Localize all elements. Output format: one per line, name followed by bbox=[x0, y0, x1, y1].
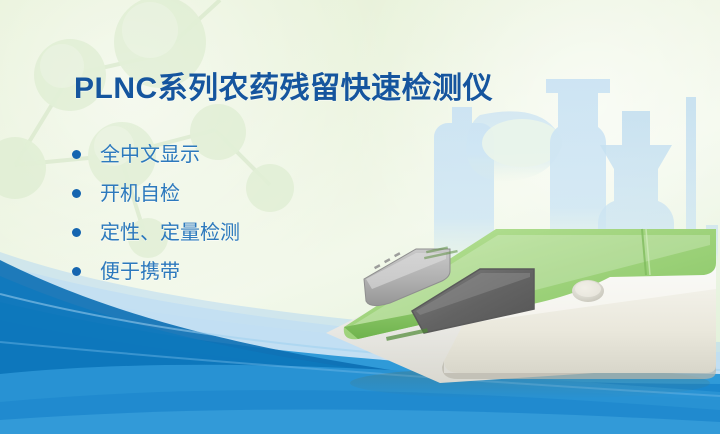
page-title: PLNC系列农药残留快速检测仪 bbox=[74, 63, 493, 107]
feature-label: 便于携带 bbox=[100, 261, 180, 283]
list-item: 便于携带 bbox=[64, 255, 240, 294]
bullet-dot-icon bbox=[72, 189, 81, 198]
feature-list: 全中文显示 开机自检 定性、定量检测 便于携带 bbox=[64, 138, 240, 294]
list-item: 定性、定量检测 bbox=[64, 216, 240, 255]
list-item: 开机自检 bbox=[64, 177, 240, 216]
bullet-dot-icon bbox=[72, 228, 81, 237]
product-banner: PLNC系列农药残留快速检测仪 全中文显示 开机自检 定性、定量检测 便于携带 bbox=[0, 0, 720, 434]
feature-label: 开机自检 bbox=[100, 183, 180, 205]
bullet-dot-icon bbox=[72, 267, 81, 276]
feature-label: 全中文显示 bbox=[100, 144, 200, 166]
list-item: 全中文显示 bbox=[64, 138, 240, 177]
feature-label: 定性、定量检测 bbox=[100, 222, 240, 244]
bullet-dot-icon bbox=[72, 150, 81, 159]
copy-block: PLNC系列农药残留快速检测仪 全中文显示 开机自检 定性、定量检测 便于携带 bbox=[0, 0, 420, 320]
